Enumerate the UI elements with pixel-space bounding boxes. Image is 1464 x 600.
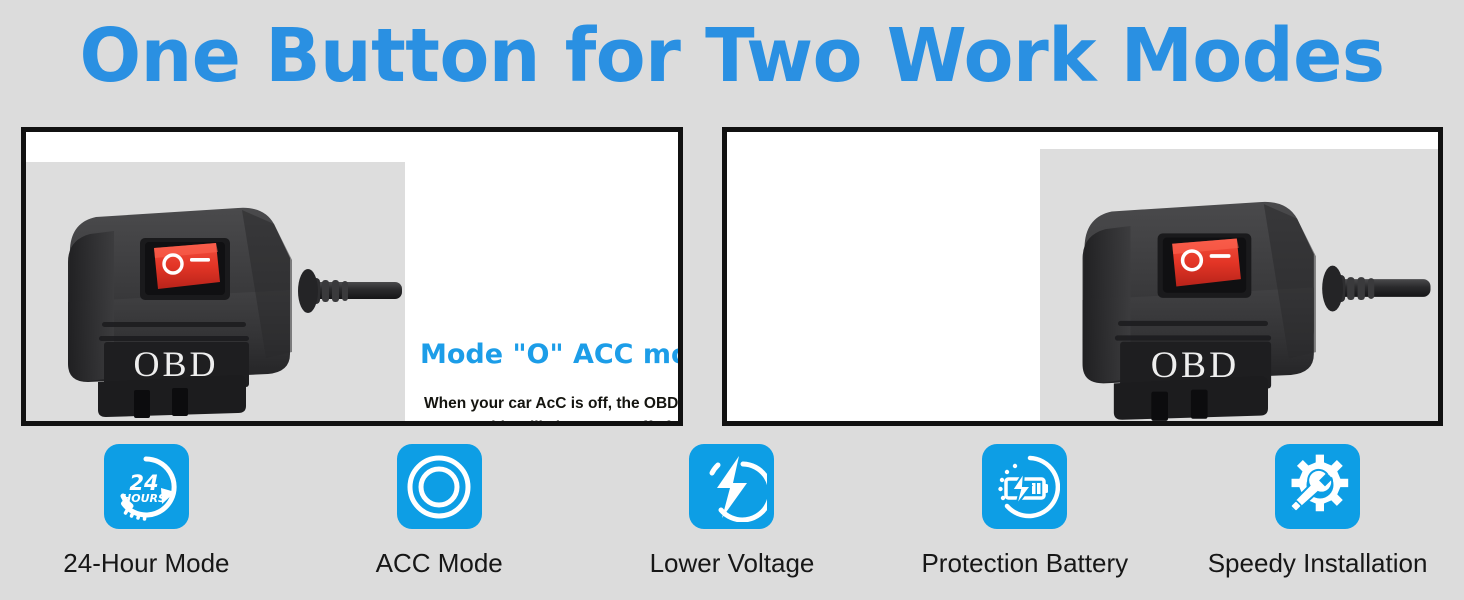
feature-tile <box>397 444 482 529</box>
lightning-bolt-circle-icon <box>697 452 767 522</box>
obd-device-image-left: OBD <box>42 182 402 421</box>
feature-protection-battery: Protection Battery <box>878 444 1171 579</box>
feature-label: Protection Battery <box>921 548 1128 579</box>
icon-text-hours: HOURS <box>122 492 166 505</box>
feature-label: Speedy Installation <box>1208 548 1428 579</box>
page-title: One Button for Two Work Modes <box>15 8 1450 104</box>
feature-tile <box>982 444 1067 529</box>
battery-bolt-icon <box>990 452 1060 522</box>
feature-label: 24-Hour Mode <box>63 548 229 579</box>
mode-panel-acc: OBD Mode "O" ACC mode When your car AcC … <box>21 127 683 426</box>
power-cable <box>1322 266 1430 312</box>
concentric-rings-icon <box>404 452 474 522</box>
infographic-root: One Button for Two Work Modes <box>0 0 1464 600</box>
feature-label: Lower Voltage <box>650 548 815 579</box>
feature-speedy-installation: Speedy Installation <box>1171 444 1464 579</box>
feature-24-hour-mode: 24 HOURS 24-Hour Mode <box>0 444 293 579</box>
feature-lower-voltage: Lower Voltage <box>586 444 879 579</box>
feature-tile: 24 HOURS <box>104 444 189 529</box>
obd-device-svg: OBD <box>1048 175 1438 421</box>
feature-tile <box>689 444 774 529</box>
product-photo-left: OBD <box>26 162 405 421</box>
feature-label: ACC Mode <box>376 548 503 579</box>
feature-tile <box>1275 444 1360 529</box>
product-photo-right: OBD <box>1040 149 1438 421</box>
gear-wrench-icon <box>1283 452 1353 522</box>
obd-device-image-right: OBD <box>1048 175 1438 421</box>
switch-symbol-dash <box>190 258 210 262</box>
feature-row: 24 HOURS 24-Hour Mode ACC Mode <box>0 444 1464 594</box>
obd-device-svg: OBD <box>42 182 402 421</box>
24-hours-clock-icon: 24 HOURS <box>111 452 181 522</box>
rocker-switch[interactable] <box>140 238 230 300</box>
power-cable <box>298 269 402 313</box>
mode-panel-surveillance: OBD Mode "-" Surveillance mode When you … <box>722 127 1443 426</box>
mode-heading-left: Mode "O" ACC mode <box>420 338 683 372</box>
feature-acc-mode: ACC Mode <box>293 444 586 579</box>
switch-symbol-dash <box>1210 254 1231 258</box>
rocker-switch[interactable] <box>1158 233 1252 298</box>
mode-body-left: When your car AcC is off, the OBD power … <box>424 392 683 426</box>
